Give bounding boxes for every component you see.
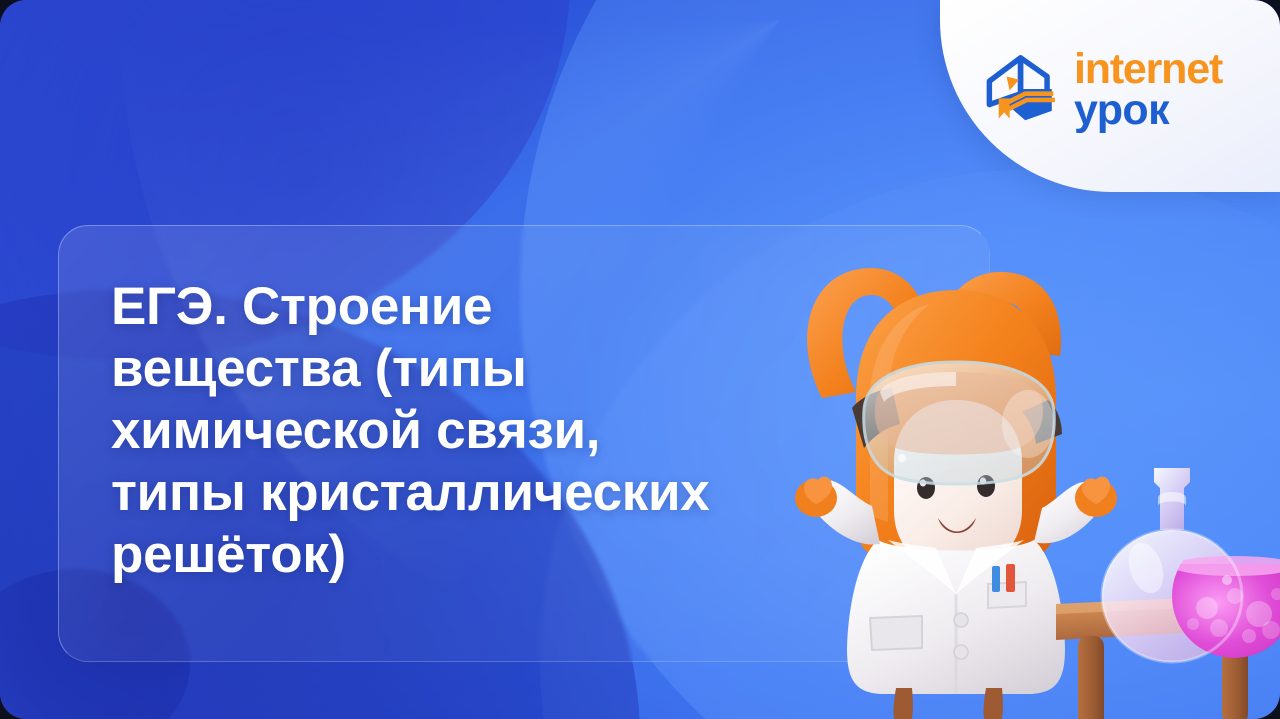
laptop-book-play-icon xyxy=(980,50,1058,128)
page-title: ЕГЭ. Строение вещества (типы химической … xyxy=(111,276,811,586)
safety-goggles xyxy=(864,362,1054,484)
pen-blue xyxy=(992,566,1000,592)
slide-canvas: ЕГЭ. Строение вещества (типы химической … xyxy=(0,0,1280,719)
lab-coat xyxy=(847,540,1065,694)
brand-logo-badge[interactable]: internet урок xyxy=(940,0,1280,192)
brand-wordmark: internet урок xyxy=(1074,49,1222,131)
pen-red xyxy=(1006,564,1015,592)
logo-word-internet: internet xyxy=(1074,49,1222,90)
logo-word-urok: урок xyxy=(1074,90,1222,131)
table-leg-left xyxy=(1078,636,1104,719)
coat-pocket-left xyxy=(870,616,922,650)
round-bottom-flask xyxy=(1102,468,1280,684)
mascot-illustration xyxy=(760,248,1280,678)
